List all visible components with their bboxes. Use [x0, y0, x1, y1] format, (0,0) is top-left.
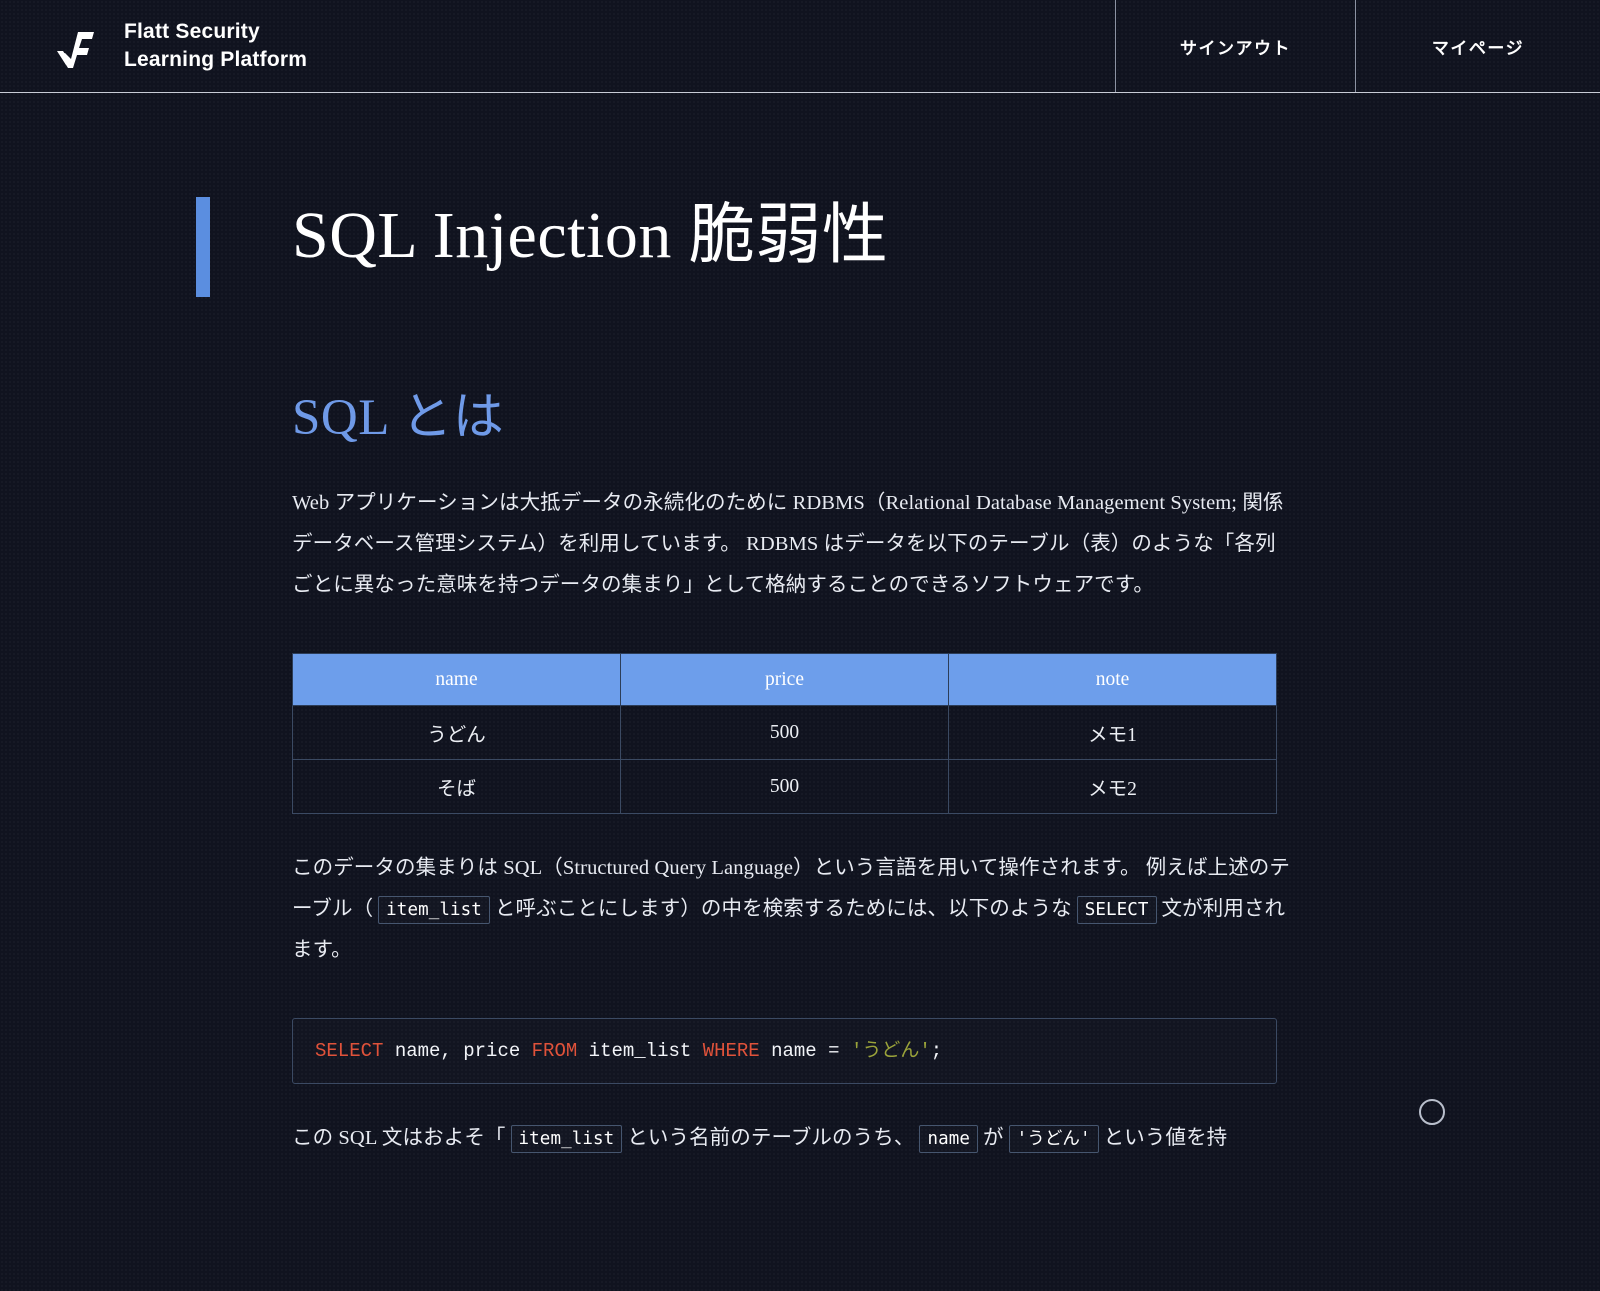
table-cell-name: そば: [293, 760, 621, 814]
sql-token-string: 'うどん': [851, 1040, 931, 1062]
paragraph-sql-meaning: この SQL 文はおよそ「item_listという名前のテーブルのうち、name…: [292, 1118, 1292, 1159]
table-cell-note: メモ2: [949, 760, 1277, 814]
brand-name: Flatt Security Learning Platform: [124, 18, 307, 73]
paragraph-intro: Web アプリケーションは大抵データの永続化のために RDBMS（Relatio…: [292, 483, 1292, 606]
page-wrap: SQL Injection 脆弱性 SQL とは Web アプリケーションは大抵…: [0, 197, 1600, 1291]
brand-line-1: Flatt Security: [124, 18, 307, 46]
nav-item-my-page[interactable]: マイページ: [1355, 0, 1600, 92]
table-row: うどん 500 メモ1: [293, 706, 1277, 760]
sql-token-keyword: WHERE: [703, 1040, 760, 1062]
paragraph-text-part: という名前のテーブルのうち、: [627, 1127, 914, 1149]
sql-token-identifier: name: [760, 1040, 828, 1062]
sql-token-keyword: FROM: [532, 1040, 578, 1062]
inline-code-item-list: item_list: [511, 1125, 623, 1153]
page-title-block: SQL Injection 脆弱性: [0, 197, 1600, 275]
inline-code-name: name: [919, 1125, 978, 1153]
table-header-name: name: [293, 654, 621, 706]
table-body: うどん 500 メモ1 そば 500 メモ2: [293, 706, 1277, 814]
sql-token-identifier: name, price: [383, 1040, 531, 1062]
sql-token-semicolon: ;: [931, 1040, 942, 1062]
section-heading-sql-towa: SQL とは: [292, 388, 1292, 449]
sql-code-block: SELECT name, price FROM item_list WHERE …: [292, 1018, 1277, 1084]
title-accent-bar: [196, 197, 210, 297]
table-row: そば 500 メモ2: [293, 760, 1277, 814]
table-cell-note: メモ1: [949, 706, 1277, 760]
paragraph-sql-explain: このデータの集まりは SQL（Structured Query Language…: [292, 848, 1292, 971]
paragraph-text-part: この SQL 文はおよそ「: [292, 1127, 506, 1149]
inline-code-item-list: item_list: [378, 896, 490, 924]
table-cell-price: 500: [621, 706, 949, 760]
item-list-table: name price note うどん 500 メモ1 そば 500 メモ2: [292, 653, 1277, 814]
nav-item-sign-out[interactable]: サインアウト: [1115, 0, 1355, 92]
table-header-row: name price note: [293, 654, 1277, 706]
paragraph-text-part: と呼ぶことにします）の中を検索するためには、以下のような: [495, 898, 1072, 920]
inline-code-select: SELECT: [1077, 896, 1157, 924]
table-head: name price note: [293, 654, 1277, 706]
flatt-f-logo-icon: [52, 19, 106, 73]
header-spacer: [307, 0, 1115, 92]
sql-token-keyword: SELECT: [315, 1040, 383, 1062]
brand-line-2: Learning Platform: [124, 46, 307, 74]
inline-code-udon-value: 'うどん': [1009, 1125, 1099, 1153]
table-cell-name: うどん: [293, 706, 621, 760]
sql-code: SELECT name, price FROM item_list WHERE …: [315, 1040, 942, 1062]
table-header-price: price: [621, 654, 949, 706]
header-nav: サインアウト マイページ: [1115, 0, 1600, 92]
paragraph-text-part: という値を持: [1104, 1127, 1228, 1149]
paragraph-text-part: が: [983, 1127, 1004, 1149]
table-header-note: note: [949, 654, 1277, 706]
circle-indicator-icon[interactable]: [1419, 1099, 1445, 1125]
sql-token-operator: =: [828, 1040, 839, 1062]
site-header: Flatt Security Learning Platform サインアウト …: [0, 0, 1600, 93]
brand-logo-link[interactable]: Flatt Security Learning Platform: [0, 0, 307, 92]
main-content: SQL とは Web アプリケーションは大抵データの永続化のために RDBMS（…: [0, 388, 1332, 1159]
table-cell-price: 500: [621, 760, 949, 814]
sql-token-space: [840, 1040, 851, 1062]
sql-token-identifier: item_list: [577, 1040, 702, 1062]
page-title: SQL Injection 脆弱性: [292, 197, 888, 275]
